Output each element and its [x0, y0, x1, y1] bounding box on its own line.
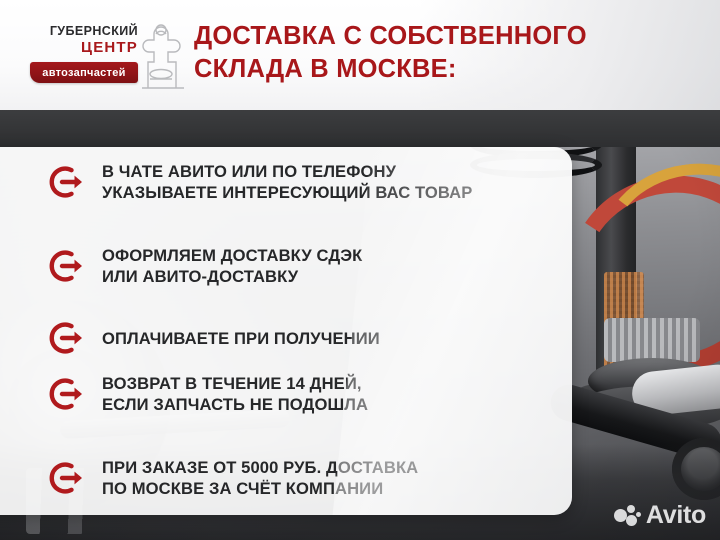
- logo-text-block: ГУБЕРНСКИЙ ЦЕНТР: [22, 24, 138, 57]
- list-item: ОПЛАЧИВАЕТЕ ПРИ ПОЛУЧЕНИИ: [48, 319, 380, 357]
- list-item-text: ВОЗВРАТ В ТЕЧЕНИЕ 14 ДНЕЙ, ЕСЛИ ЗАПЧАСТЬ…: [102, 373, 368, 415]
- circular-arrow-right-icon: [48, 459, 86, 497]
- avito-wordmark: Avito: [646, 503, 706, 528]
- page-title: ДОСТАВКА С СОБСТВЕННОГО СКЛАДА В МОСКВЕ:: [194, 20, 694, 86]
- logo-banner: автозапчастей: [30, 62, 138, 83]
- list-item: ВОЗВРАТ В ТЕЧЕНИЕ 14 ДНЕЙ, ЕСЛИ ЗАПЧАСТЬ…: [48, 373, 368, 415]
- list-item-line-1: ОФОРМЛЯЕМ ДОСТАВКУ СДЭК: [102, 245, 362, 266]
- circular-arrow-right-icon: [48, 247, 86, 285]
- header-title-line-1: ДОСТАВКА С СОБСТВЕННОГО: [194, 20, 694, 53]
- engine-piston-outline-icon: [134, 22, 190, 92]
- list-item-line-2: ПО МОСКВЕ ЗА СЧЁТ КОМПАНИИ: [102, 478, 418, 499]
- list-item: В ЧАТЕ АВИТО ИЛИ ПО ТЕЛЕФОНУ УКАЗЫВАЕТЕ …: [48, 161, 472, 203]
- circular-arrow-right-icon: [48, 163, 86, 201]
- list-item-line-2: ЕСЛИ ЗАПЧАСТЬ НЕ ПОДОШЛА: [102, 394, 368, 415]
- list-item-line-2: ИЛИ АВИТО-ДОСТАВКУ: [102, 266, 362, 287]
- list-item-line-1: В ЧАТЕ АВИТО ИЛИ ПО ТЕЛЕФОНУ: [102, 161, 472, 182]
- list-item-text: ОПЛАЧИВАЕТЕ ПРИ ПОЛУЧЕНИИ: [102, 328, 380, 349]
- avito-watermark: Avito: [614, 503, 706, 528]
- benefits-list: В ЧАТЕ АВИТО ИЛИ ПО ТЕЛЕФОНУ УКАЗЫВАЕТЕ …: [0, 147, 572, 159]
- list-item-text: ПРИ ЗАКАЗЕ ОТ 5000 РУБ. ДОСТАВКА ПО МОСК…: [102, 457, 418, 499]
- list-item-line-1: ОПЛАЧИВАЕТЕ ПРИ ПОЛУЧЕНИИ: [102, 328, 380, 349]
- benefits-panel: В ЧАТЕ АВИТО ИЛИ ПО ТЕЛЕФОНУ УКАЗЫВАЕТЕ …: [0, 147, 572, 515]
- header-title-line-2: СКЛАДА В МОСКВЕ:: [194, 53, 694, 86]
- list-item: ПРИ ЗАКАЗЕ ОТ 5000 РУБ. ДОСТАВКА ПО МОСК…: [48, 457, 418, 499]
- circular-arrow-right-icon: [48, 319, 86, 357]
- list-item-text: В ЧАТЕ АВИТО ИЛИ ПО ТЕЛЕФОНУ УКАЗЫВАЕТЕ …: [102, 161, 472, 203]
- promo-banner: ГУБЕРНСКИЙ ЦЕНТР автозапчастей ДОСТАВКА …: [0, 0, 720, 540]
- company-logo: ГУБЕРНСКИЙ ЦЕНТР автозапчастей: [22, 24, 182, 90]
- list-item-line-1: ПРИ ЗАКАЗЕ ОТ 5000 РУБ. ДОСТАВКА: [102, 457, 418, 478]
- circular-arrow-right-icon: [48, 375, 86, 413]
- list-item-text: ОФОРМЛЯЕМ ДОСТАВКУ СДЭК ИЛИ АВИТО-ДОСТАВ…: [102, 245, 362, 287]
- logo-line-1: ГУБЕРНСКИЙ: [22, 24, 138, 39]
- list-item-line-2: УКАЗЫВАЕТЕ ИНТЕРЕСУЮЩИЙ ВАС ТОВАР: [102, 182, 472, 203]
- list-item-line-1: ВОЗВРАТ В ТЕЧЕНИЕ 14 ДНЕЙ,: [102, 373, 368, 394]
- avito-dots-logo-icon: [614, 505, 640, 527]
- logo-banner-label: автозапчастей: [42, 67, 125, 79]
- header-divider-band: [0, 110, 720, 147]
- logo-line-2: ЦЕНТР: [22, 39, 138, 57]
- header-bar: ГУБЕРНСКИЙ ЦЕНТР автозапчастей ДОСТАВКА …: [0, 0, 720, 110]
- list-item: ОФОРМЛЯЕМ ДОСТАВКУ СДЭК ИЛИ АВИТО-ДОСТАВ…: [48, 245, 362, 287]
- background-hub-knurled: [604, 318, 700, 362]
